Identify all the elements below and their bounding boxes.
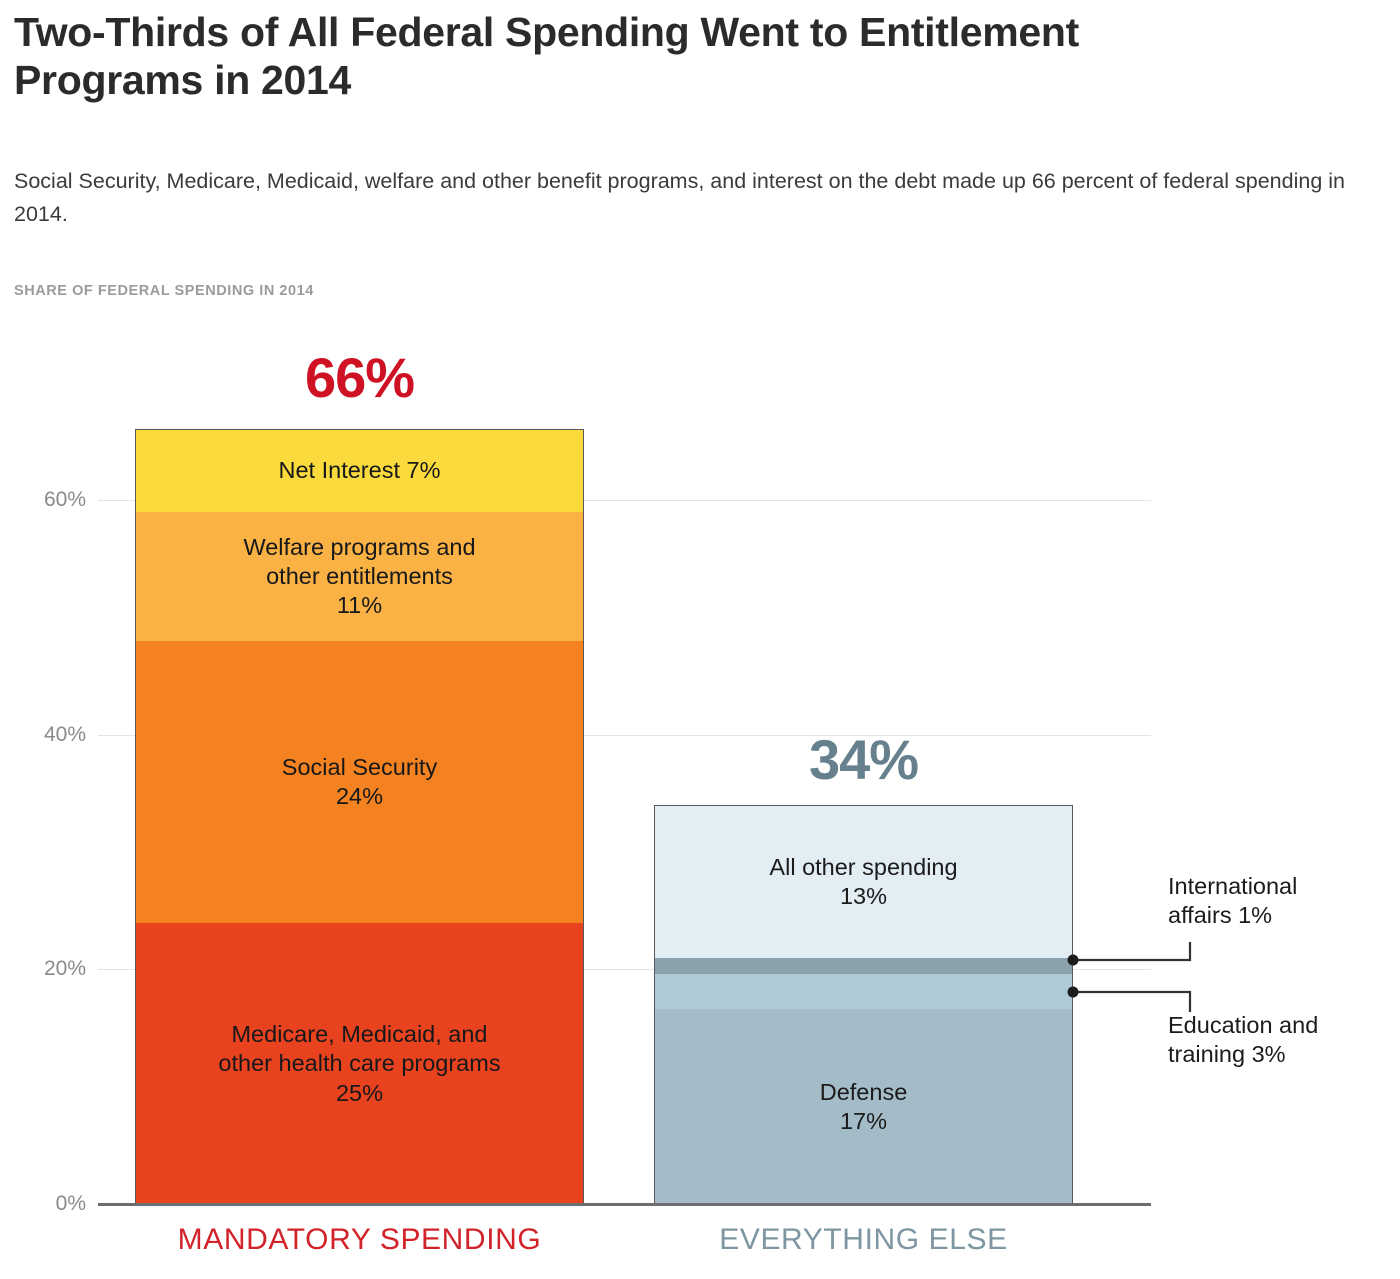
stacked-bar-chart: 60% 40% 20% 0% 66% Net Interest 7% Welfa… [0,0,1400,1279]
segment-health-care-line2: other health care programs [218,1049,500,1078]
leader-line-international-affairs [1073,942,1190,960]
y-tick-40: 40% [2,723,86,747]
segment-all-other-line1: All other spending [769,853,957,882]
segment-welfare-line2: other entitlements [243,562,475,591]
callout-international-line1: International [1168,872,1388,901]
segment-welfare-value: 11% [243,591,475,620]
segment-health-care-line1: Medicare, Medicaid, and [218,1020,500,1049]
chart-page: Two-Thirds of All Federal Spending Went … [0,0,1400,1279]
callout-education-training: Education and training 3% [1168,1011,1388,1070]
segment-health-care-label: Medicare, Medicaid, and other health car… [210,1020,508,1107]
segment-welfare-entitlements-label: Welfare programs and other entitlements … [235,533,483,620]
x-axis-baseline [98,1203,1151,1206]
bar-everything-else[interactable]: All other spending 13% Defense 17% [654,805,1073,1204]
segment-all-other-spending[interactable]: All other spending 13% [655,806,1072,958]
segment-defense-value: 17% [820,1107,908,1136]
segment-net-interest[interactable]: Net Interest 7% [136,430,583,512]
y-tick-0: 0% [2,1192,86,1216]
segment-social-security-label: Social Security 24% [274,753,445,811]
segment-all-other-spending-label: All other spending 13% [761,853,965,911]
segment-social-security-value: 24% [282,782,437,811]
segment-welfare-line1: Welfare programs and [243,533,475,562]
bar-mandatory-spending[interactable]: Net Interest 7% Welfare programs and oth… [135,429,584,1204]
y-tick-60: 60% [2,488,86,512]
segment-health-care[interactable]: Medicare, Medicaid, and other health car… [136,923,583,1204]
segment-defense[interactable]: Defense 17% [655,1009,1072,1204]
segment-education-training[interactable] [655,974,1072,1009]
segment-defense-label: Defense 17% [812,1078,916,1136]
segment-health-care-value: 25% [218,1079,500,1108]
segment-social-security[interactable]: Social Security 24% [136,641,583,923]
total-mandatory-spending: 66% [135,345,584,410]
segment-international-affairs[interactable] [655,958,1072,974]
total-everything-else: 34% [654,727,1073,792]
y-tick-20: 20% [2,957,86,981]
callout-international-line2: affairs 1% [1168,901,1388,930]
segment-defense-line1: Defense [820,1078,908,1107]
segment-welfare-entitlements[interactable]: Welfare programs and other entitlements … [136,512,583,641]
leader-dot-international-affairs [1068,955,1079,966]
segment-net-interest-label: Net Interest 7% [271,456,449,485]
callout-education-line2: training 3% [1168,1040,1388,1069]
leader-dot-education-training [1068,987,1079,998]
callout-education-line1: Education and [1168,1011,1388,1040]
segment-social-security-line1: Social Security [282,753,437,782]
category-label-everything-else: EVERYTHING ELSE [654,1223,1073,1257]
leader-line-education-training [1073,992,1190,1012]
category-label-mandatory-spending: MANDATORY SPENDING [135,1223,584,1257]
callout-international-affairs: International affairs 1% [1168,872,1388,931]
segment-all-other-value: 13% [769,882,957,911]
